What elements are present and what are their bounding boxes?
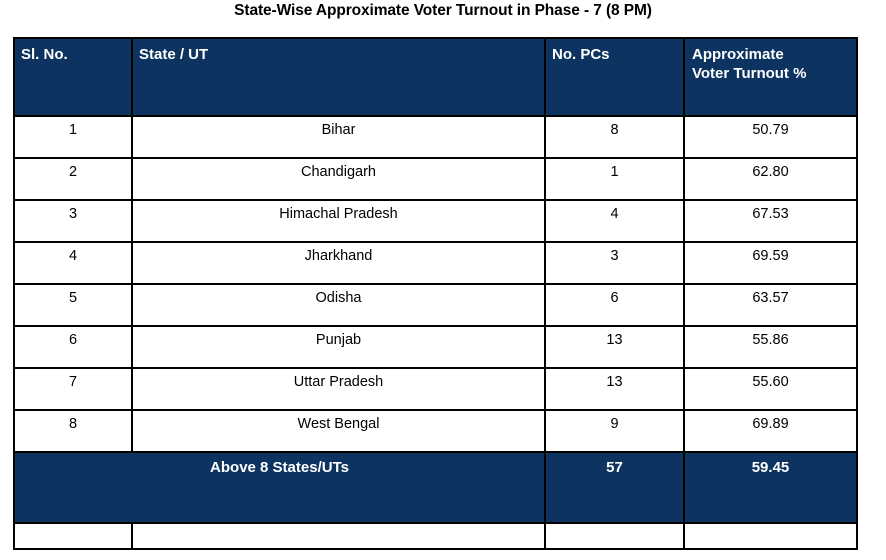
cell-turnout: 55.60 (684, 368, 857, 410)
cell-turnout-value: 55.60 (685, 369, 856, 391)
cell-state: Jharkhand (132, 242, 545, 284)
cell-state: Odisha (132, 284, 545, 326)
column-header-voter-turnout-line1: Approximate (692, 45, 856, 64)
cell-state-value: Jharkhand (133, 243, 544, 265)
summary-label: Above 8 States/UTs (15, 453, 544, 477)
cell-sl-no: 1 (14, 116, 132, 158)
column-header-voter-turnout: Approximate Voter Turnout % (684, 38, 857, 116)
table-row: 5 Odisha 6 63.57 (14, 284, 857, 326)
cell-turnout-value: 69.89 (685, 411, 856, 433)
summary-turnout-cell: 59.45 (684, 452, 857, 523)
page-title: State-Wise Approximate Voter Turnout in … (0, 2, 886, 20)
table-header: Sl. No. State / UT No. PCs Approximate V… (14, 38, 857, 116)
cell-pcs: 6 (545, 284, 684, 326)
cell-sl-no: 8 (14, 410, 132, 452)
table-row: 1 Bihar 8 50.79 (14, 116, 857, 158)
cell-sl-no-value: 2 (15, 159, 131, 181)
cell-turnout: 67.53 (684, 200, 857, 242)
cell-turnout-value: 69.59 (685, 243, 856, 265)
cell-state-value: Punjab (133, 327, 544, 349)
cell-turnout: 55.86 (684, 326, 857, 368)
cell-state: Bihar (132, 116, 545, 158)
table-row: 8 West Bengal 9 69.89 (14, 410, 857, 452)
cell-sl-no: 2 (14, 158, 132, 200)
cell-state-value: Uttar Pradesh (133, 369, 544, 391)
cell-pcs-value: 1 (546, 159, 683, 181)
cell-turnout-value: 63.57 (685, 285, 856, 307)
cell-pcs-value: 6 (546, 285, 683, 307)
voter-turnout-table: Sl. No. State / UT No. PCs Approximate V… (13, 37, 858, 550)
summary-label-cell: Above 8 States/UTs (14, 452, 545, 523)
cell-sl-no-value: 1 (15, 117, 131, 139)
cell-sl-no: 3 (14, 200, 132, 242)
cell-pcs-value: 3 (546, 243, 683, 265)
cell-state: Punjab (132, 326, 545, 368)
cell-pcs: 3 (545, 242, 684, 284)
cell-turnout-value: 50.79 (685, 117, 856, 139)
cell-state-value: Himachal Pradesh (133, 201, 544, 223)
table-row: 7 Uttar Pradesh 13 55.60 (14, 368, 857, 410)
cell-pcs-value: 13 (546, 327, 683, 349)
cell-state-value: Bihar (133, 117, 544, 139)
cell-turnout: 69.89 (684, 410, 857, 452)
cell-sl-no: 4 (14, 242, 132, 284)
summary-pcs-value: 57 (546, 453, 683, 477)
table-row-clipped (14, 523, 857, 549)
column-header-no-pcs-label: No. PCs (546, 39, 683, 64)
table-row: 4 Jharkhand 3 69.59 (14, 242, 857, 284)
cell-pcs: 1 (545, 158, 684, 200)
cell-state-value: West Bengal (133, 411, 544, 433)
cell-sl-no: 6 (14, 326, 132, 368)
cell-state: Uttar Pradesh (132, 368, 545, 410)
cell-turnout: 50.79 (684, 116, 857, 158)
cell-turnout: 63.57 (684, 284, 857, 326)
cell-pcs-value: 9 (546, 411, 683, 433)
cell-pcs: 9 (545, 410, 684, 452)
table-summary-row: Above 8 States/UTs 57 59.45 (14, 452, 857, 523)
table-row: 3 Himachal Pradesh 4 67.53 (14, 200, 857, 242)
cell-pcs: 4 (545, 200, 684, 242)
cell-pcs-value: 4 (546, 201, 683, 223)
column-header-sl-no: Sl. No. (14, 38, 132, 116)
column-header-no-pcs: No. PCs (545, 38, 684, 116)
summary-pcs-cell: 57 (545, 452, 684, 523)
table-row: 2 Chandigarh 1 62.80 (14, 158, 857, 200)
cell-state (132, 523, 545, 549)
cell-pcs (545, 523, 684, 549)
cell-state: West Bengal (132, 410, 545, 452)
cell-state: Chandigarh (132, 158, 545, 200)
cell-pcs: 13 (545, 326, 684, 368)
cell-turnout-value: 62.80 (685, 159, 856, 181)
cell-state-value: Chandigarh (133, 159, 544, 181)
cell-state: Himachal Pradesh (132, 200, 545, 242)
column-header-state-ut: State / UT (132, 38, 545, 116)
cell-sl-no-value: 6 (15, 327, 131, 349)
cell-sl-no (14, 523, 132, 549)
cell-sl-no-value: 3 (15, 201, 131, 223)
cell-sl-no: 5 (14, 284, 132, 326)
cell-state-value: Odisha (133, 285, 544, 307)
column-header-voter-turnout-lines: Approximate Voter Turnout % (685, 39, 856, 83)
cell-sl-no: 7 (14, 368, 132, 410)
turnout-table-container: Sl. No. State / UT No. PCs Approximate V… (13, 37, 856, 550)
cell-sl-no-value: 7 (15, 369, 131, 391)
cell-sl-no-value: 8 (15, 411, 131, 433)
cell-turnout-value: 55.86 (685, 327, 856, 349)
cell-turnout: 69.59 (684, 242, 857, 284)
voter-turnout-page: State-Wise Approximate Voter Turnout in … (0, 0, 886, 560)
summary-turnout-value: 59.45 (685, 453, 856, 477)
column-header-voter-turnout-line2: Voter Turnout % (692, 64, 856, 83)
table-row: 6 Punjab 13 55.86 (14, 326, 857, 368)
cell-turnout-value: 67.53 (685, 201, 856, 223)
table-body: 1 Bihar 8 50.79 2 Chandigarh 1 62.80 3 H… (14, 116, 857, 549)
cell-pcs: 13 (545, 368, 684, 410)
cell-pcs-value: 8 (546, 117, 683, 139)
cell-pcs: 8 (545, 116, 684, 158)
cell-sl-no-value: 4 (15, 243, 131, 265)
column-header-state-ut-label: State / UT (133, 39, 544, 64)
cell-pcs-value: 13 (546, 369, 683, 391)
cell-sl-no-value: 5 (15, 285, 131, 307)
cell-turnout (684, 523, 857, 549)
cell-turnout: 62.80 (684, 158, 857, 200)
column-header-sl-no-label: Sl. No. (15, 39, 131, 64)
table-header-row: Sl. No. State / UT No. PCs Approximate V… (14, 38, 857, 116)
